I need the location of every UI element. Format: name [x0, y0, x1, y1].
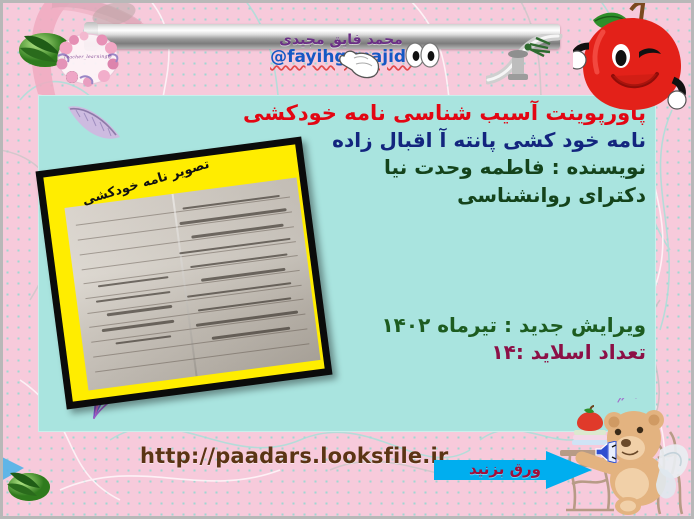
floral-circle-badge-icon: @Teacher_learning	[50, 28, 126, 90]
slide-title-block: پاورپوینت آسیب شناسی نامه خودکشی نامه خو…	[214, 99, 646, 209]
website-url[interactable]: http://paadars.looksfile.ir	[140, 444, 448, 468]
feather-icon	[64, 101, 126, 149]
slide-meta-block: ویرایش جدید : تیرماه ۱۴۰۲ تعداد اسلاید :…	[214, 313, 646, 364]
slide-author: نویسنده : فاطمه وحدت نیا	[214, 154, 646, 181]
next-slide-label: ورق بزنید	[456, 460, 554, 478]
slide-subtitle: نامه خود کشی پانته آ اقبال زاده	[214, 127, 646, 154]
apple-character-icon	[573, 2, 691, 114]
pointing-hand-icon	[338, 42, 382, 82]
slide-stage: @Teacher_learning	[0, 0, 694, 519]
speaker-sound-icon[interactable]	[594, 441, 620, 463]
slide-panel: تصویر نامه خودکشی پاورپوینت آسیب شناسی ن…	[38, 95, 656, 432]
next-slide-button[interactable]: ورق بزنید	[434, 451, 594, 489]
slide-count: تعداد اسلاید :۱۴	[214, 340, 646, 364]
slide-credential: دکترای روانشناسی	[214, 182, 646, 209]
slide-edition: ویرایش جدید : تیرماه ۱۴۰۲	[214, 313, 646, 337]
faucet-icon	[486, 34, 572, 98]
floating-eyes-icon	[404, 40, 440, 70]
green-leaf-icon	[6, 468, 52, 504]
